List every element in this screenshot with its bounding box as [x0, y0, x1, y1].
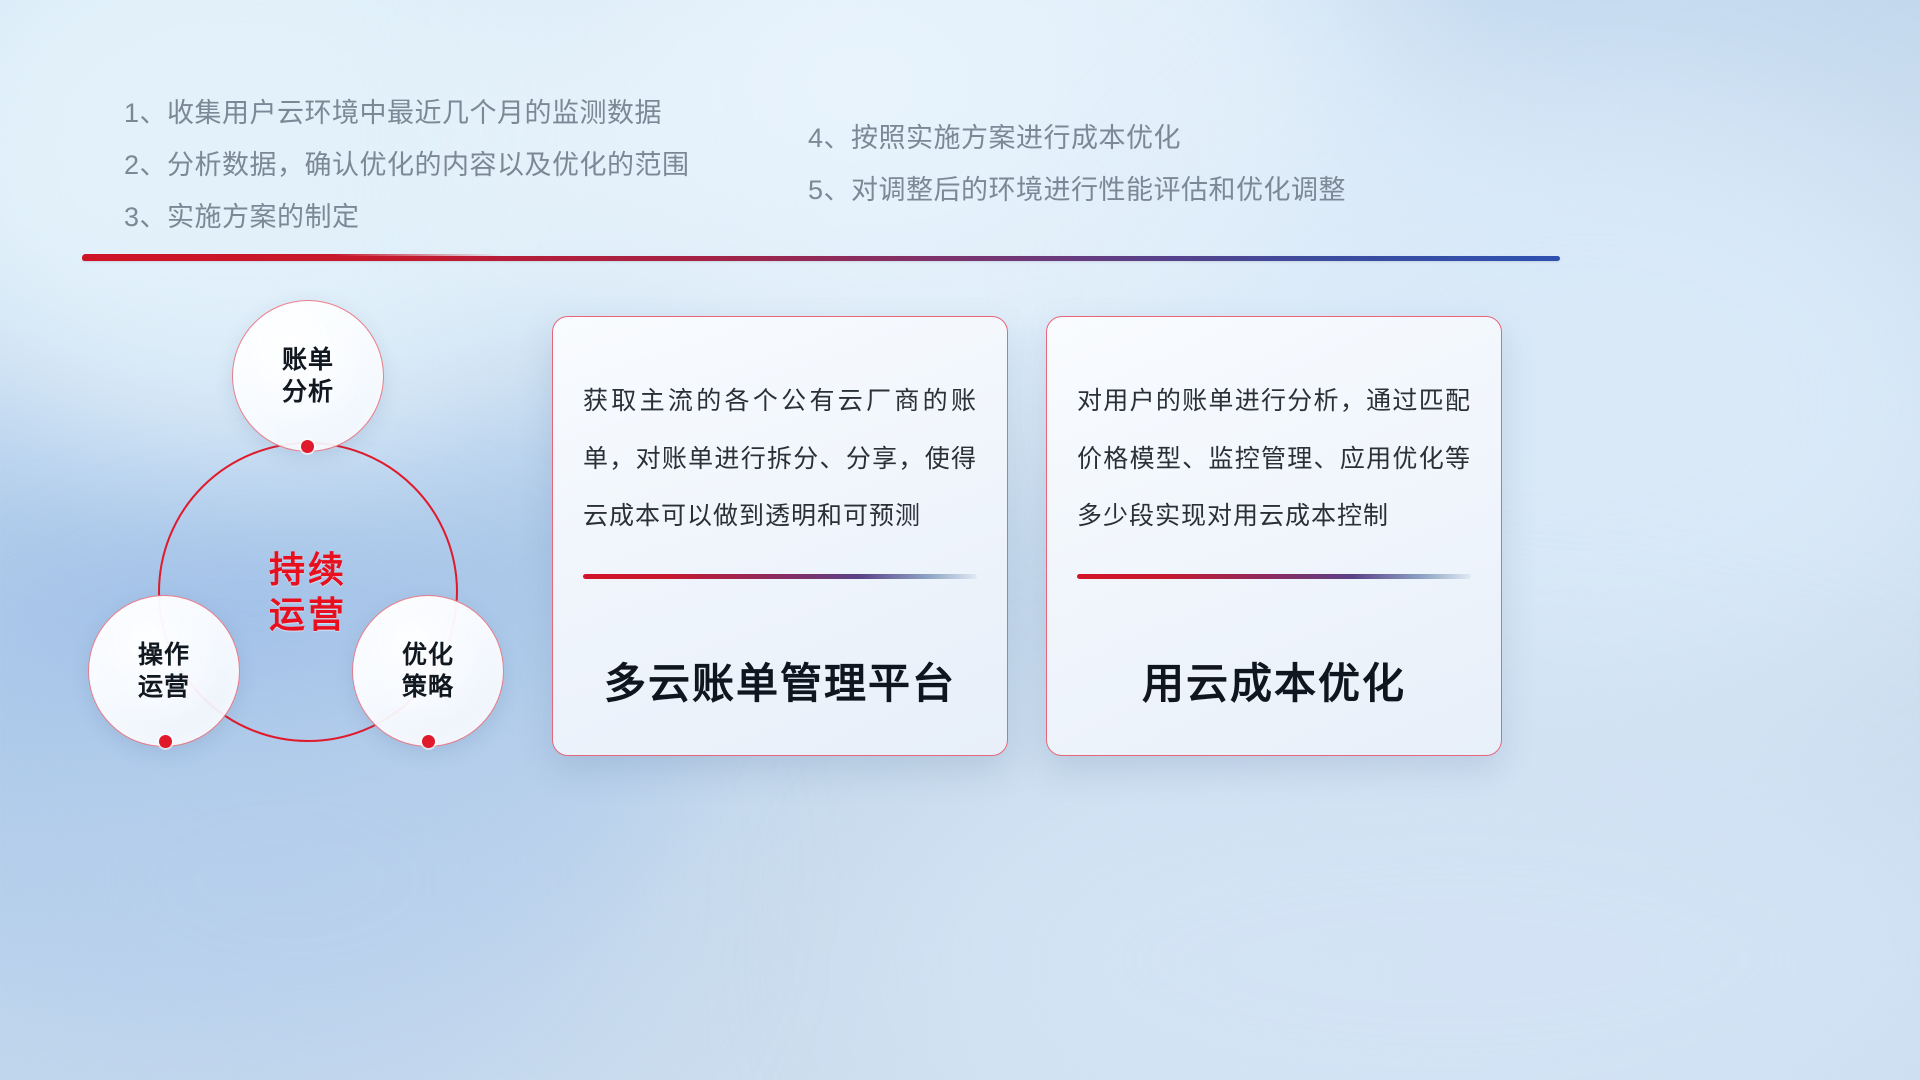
diagram-node-operations-line-1: 操作 — [138, 639, 190, 672]
step-item-5: 5、对调整后的环境进行性能评估和优化调整 — [808, 177, 1346, 204]
diagram-node-bill-analysis[interactable]: 账单 分析 — [232, 300, 384, 452]
background-glow-bottom-right — [900, 700, 1920, 1080]
info-card-multicloud-billing-divider — [583, 574, 977, 579]
diagram-connector-dot-top — [301, 440, 314, 453]
steps-list-left: 1、收集用户云环境中最近几个月的监测数据 2、分析数据，确认优化的内容以及优化的… — [124, 100, 690, 256]
step-item-4: 4、按照实施方案进行成本优化 — [808, 125, 1346, 152]
diagram-center-line-2: 运营 — [269, 592, 347, 637]
diagram-node-operations-line-2: 运营 — [138, 671, 190, 704]
diagram-node-optimization-strategy[interactable]: 优化 策略 — [352, 595, 504, 747]
info-card-cost-optimization-body: 对用户的账单进行分析，通过匹配价格模型、监控管理、应用优化等多少段实现对用云成本… — [1077, 373, 1471, 546]
info-card-cost-optimization-title: 用云成本优化 — [1077, 650, 1471, 711]
step-item-1: 1、收集用户云环境中最近几个月的监测数据 — [124, 100, 690, 127]
diagram-node-optimization-strategy-line-2: 策略 — [402, 671, 454, 704]
info-card-multicloud-billing-title: 多云账单管理平台 — [583, 650, 977, 711]
diagram-node-bill-analysis-line-2: 分析 — [282, 376, 334, 409]
diagram-node-operations[interactable]: 操作 运营 — [88, 595, 240, 747]
diagram-connector-dot-bottom-right — [422, 735, 435, 748]
step-item-2: 2、分析数据，确认优化的内容以及优化的范围 — [124, 152, 690, 179]
info-card-cost-optimization-divider — [1077, 574, 1471, 579]
diagram-center-line-1: 持续 — [269, 547, 347, 592]
section-divider-rule — [82, 256, 1560, 261]
diagram-node-optimization-strategy-line-1: 优化 — [402, 639, 454, 672]
info-card-cost-optimization[interactable]: 对用户的账单进行分析，通过匹配价格模型、监控管理、应用优化等多少段实现对用云成本… — [1046, 316, 1502, 756]
info-card-multicloud-billing-body: 获取主流的各个公有云厂商的账单，对账单进行拆分、分享，使得云成本可以做到透明和可… — [583, 373, 977, 546]
step-item-3: 3、实施方案的制定 — [124, 204, 690, 231]
diagram-connector-dot-bottom-left — [159, 735, 172, 748]
info-card-multicloud-billing[interactable]: 获取主流的各个公有云厂商的账单，对账单进行拆分、分享，使得云成本可以做到透明和可… — [552, 316, 1008, 756]
diagram-node-bill-analysis-line-1: 账单 — [282, 344, 334, 377]
continuous-operation-diagram: 持续 运营 账单 分析 操作 运营 优化 策略 — [80, 290, 550, 770]
steps-list-right: 4、按照实施方案进行成本优化 5、对调整后的环境进行性能评估和优化调整 — [808, 125, 1346, 229]
